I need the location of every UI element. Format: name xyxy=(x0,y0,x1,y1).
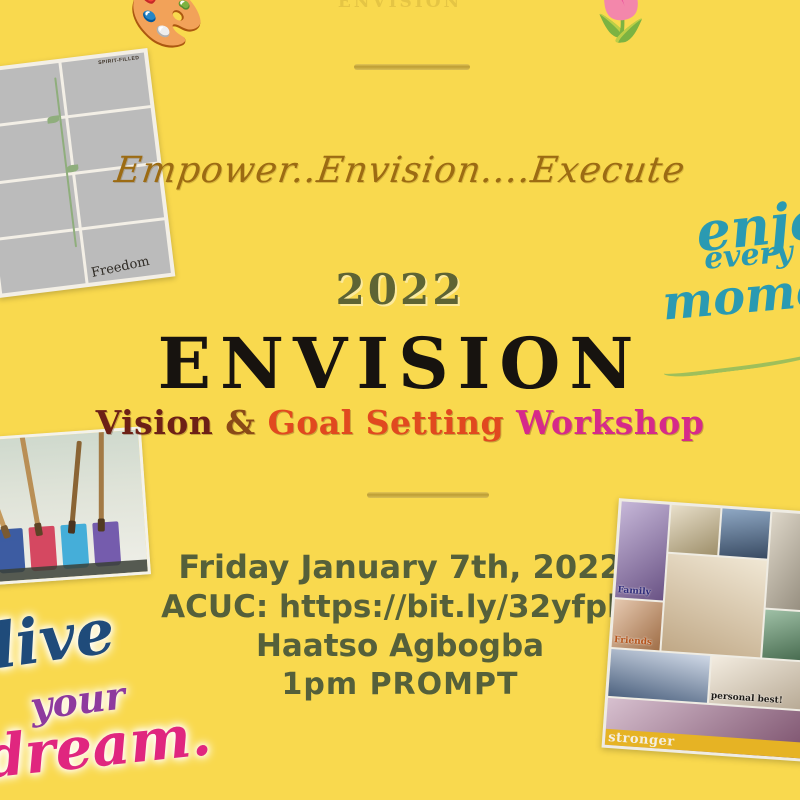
poster-canvas: ENVISION 🎨 🌷 SPIRIT-FILLED Freedom Empow… xyxy=(0,0,800,800)
collage-cell xyxy=(719,508,770,558)
top-cropped-text: ENVISION xyxy=(0,0,800,12)
paint-brush xyxy=(19,432,42,535)
divider-top xyxy=(354,64,470,70)
collage-cell: Friends xyxy=(612,600,663,650)
stronger-banner: stronger xyxy=(605,729,800,759)
collage-word: Family xyxy=(617,586,651,598)
subtitle: Vision & Goal Setting Workshop xyxy=(0,403,800,442)
page-title: ENVISION xyxy=(0,322,800,405)
divider-middle xyxy=(367,492,489,498)
subtitle-ampersand: & xyxy=(225,403,255,442)
tulip-icon: 🌷 xyxy=(586,0,656,40)
paint-brush xyxy=(69,441,82,533)
collage-word: Friends xyxy=(614,635,653,648)
collage-cell xyxy=(669,505,720,555)
year-text: 2022 xyxy=(0,265,800,314)
collage-cell: Family xyxy=(615,501,670,601)
collage-cell xyxy=(765,512,800,612)
subtitle-goal-setting: Goal Setting xyxy=(268,403,505,442)
paint-brush xyxy=(99,430,104,530)
dream-line-3: dream. xyxy=(0,700,214,791)
collage-cell: SPIRIT-FILLED xyxy=(61,52,150,115)
collage-cell: personal best! xyxy=(708,656,800,710)
paint-brush xyxy=(0,446,10,538)
subtitle-workshop: Workshop xyxy=(516,403,704,442)
palette-icon: 🎨 xyxy=(128,0,205,48)
collage-cell xyxy=(608,649,710,703)
vision-board-right: Family Friends personal best! stronger xyxy=(602,498,800,762)
enjoy-line-1: enjoy xyxy=(693,184,800,264)
collage-word: personal best! xyxy=(711,691,783,706)
tagline-text: Empower..Envision....Execute xyxy=(0,150,800,191)
subtitle-vision: Vision xyxy=(96,403,214,442)
collage-cell xyxy=(762,610,800,660)
collage-cell xyxy=(662,554,767,657)
spirit-filled-label: SPIRIT-FILLED xyxy=(98,55,140,66)
